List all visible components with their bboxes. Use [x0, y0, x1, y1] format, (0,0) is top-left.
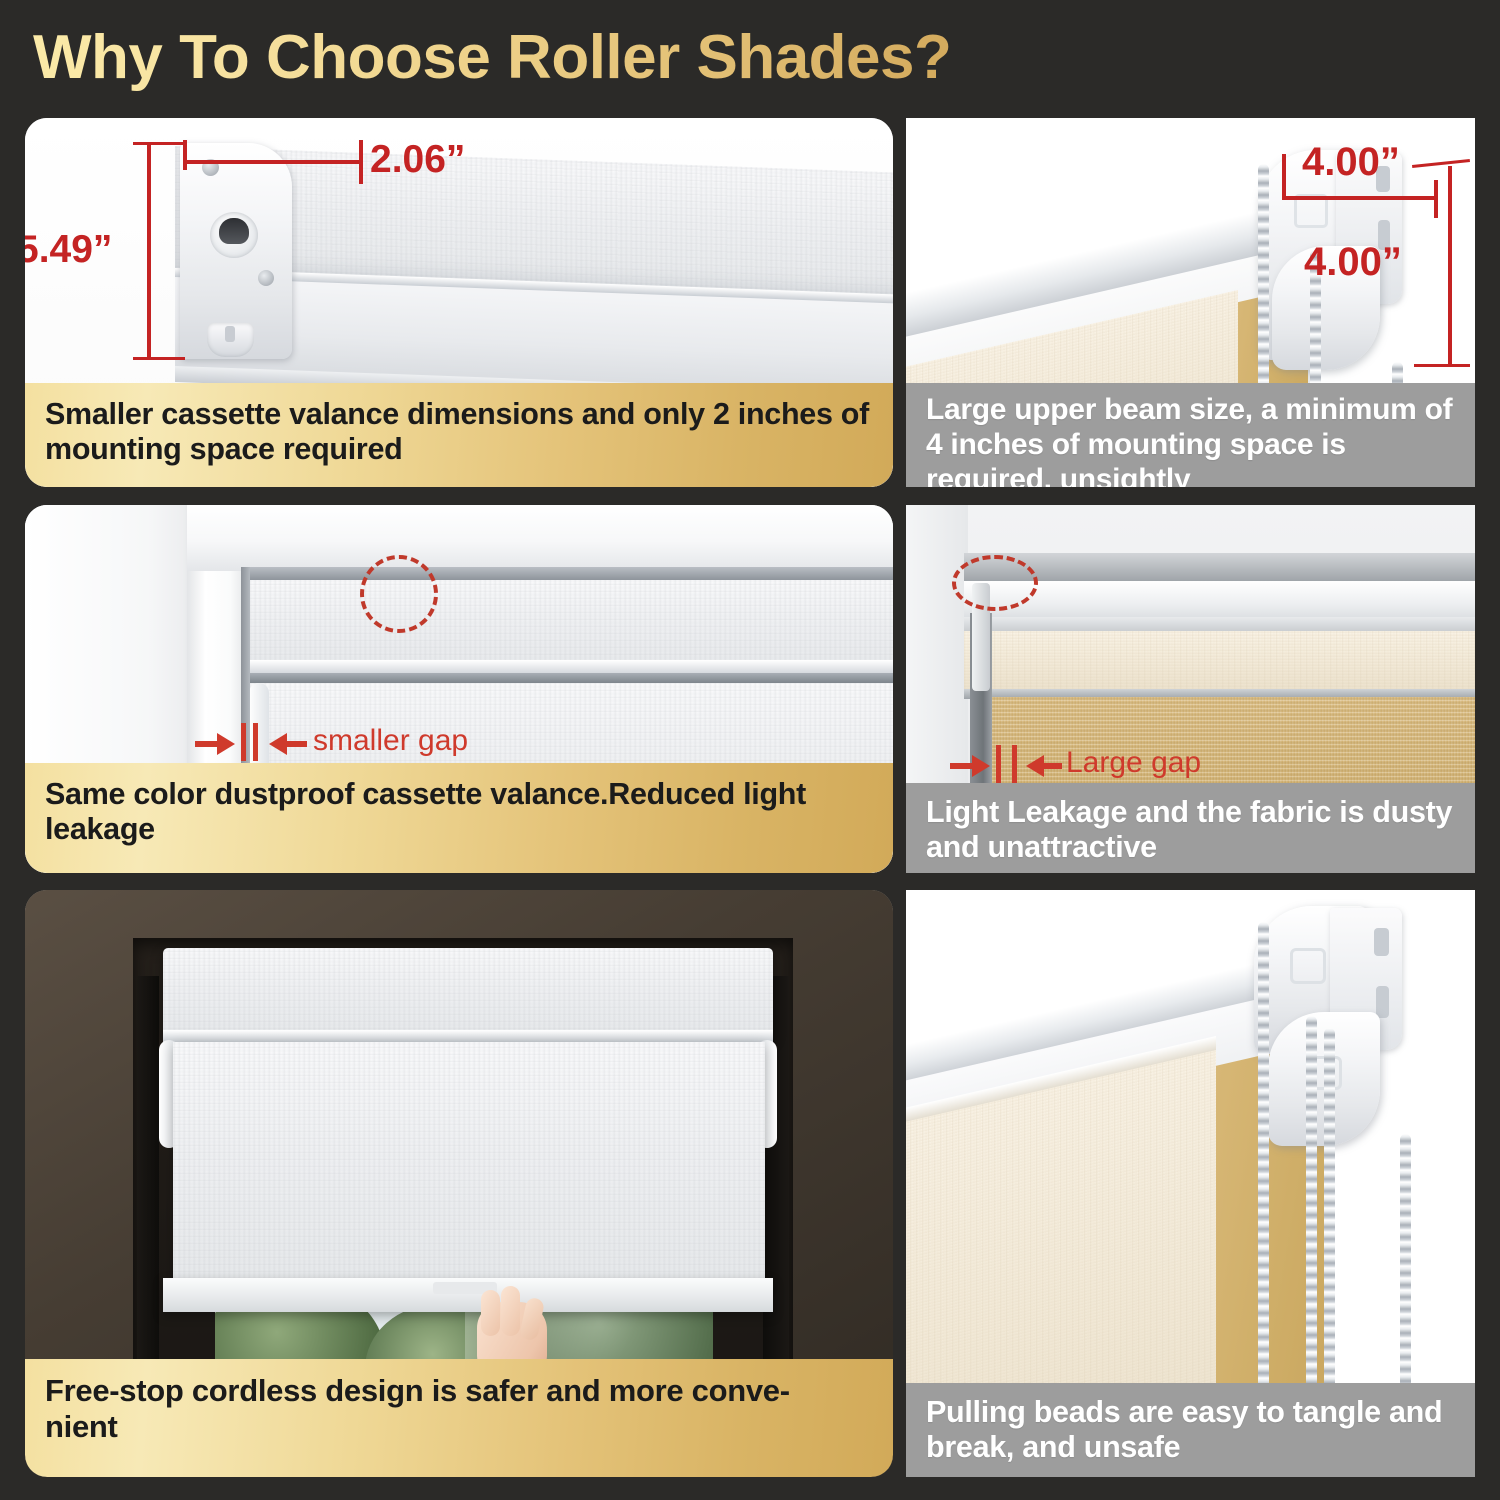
beam-height-tick-bottom: [1414, 364, 1470, 367]
beads-bracket-slot-1: [1374, 928, 1389, 956]
height-dim-line: [147, 142, 151, 360]
leakage-highlight-ellipse: [952, 555, 1038, 611]
smaller-gap-left-tail: [195, 741, 217, 747]
large-gap-left-arrow: [972, 755, 990, 777]
panel-caption: Same color dustproof cassette valance.Re…: [25, 763, 893, 873]
panel-caption: Large upper beam size, a minimum of 4 in…: [906, 383, 1475, 487]
hand-finger-middle: [501, 1286, 520, 1336]
height-dim-tick-bottom: [133, 357, 185, 360]
beam-height-dim-line: [1448, 166, 1452, 366]
shade-mid-rail: [249, 673, 893, 683]
top-gap-highlight-circle: [360, 555, 438, 633]
smaller-gap-right-arrow: [269, 733, 287, 755]
shade-valance-lip: [249, 660, 893, 674]
smaller-gap-label: smaller gap: [313, 724, 468, 758]
beads-bracket-slot-2: [1376, 986, 1389, 1018]
shade-valance-bottom-edge: [163, 1030, 773, 1042]
panel-caption: Pulling beads are easy to tangle and bre…: [906, 1383, 1475, 1477]
width-dim-tick-right: [359, 140, 363, 184]
beam-height-tick-top: [1412, 159, 1470, 168]
shade-cassette-valance: [163, 948, 773, 1036]
large-gap-label: Large gap: [1066, 746, 1201, 780]
large-gap-left-tail: [950, 763, 972, 769]
infographic-root: Why To Choose Roller Shades? 2.06”: [0, 0, 1500, 1500]
panel-cordless-design: Free-stop cordless design is safer and m…: [25, 890, 893, 1477]
smaller-gap-bar-left: [241, 723, 246, 761]
panel-dustproof-valance: smaller gap Same color dustproof cassett…: [25, 505, 893, 873]
large-gap-bar-right: [1012, 745, 1017, 783]
large-gap-right-arrow: [1026, 755, 1044, 777]
beam-height-label: 4.00”: [1304, 240, 1402, 285]
large-gap-bar-left: [996, 745, 1001, 783]
height-dim-tick-top: [133, 142, 185, 145]
beam-width-dim-line: [1284, 196, 1436, 200]
shade-top-rail: [249, 567, 893, 580]
panel-cassette-dimensions: 2.06” 5.49” Smaller cassette valance dim…: [25, 118, 893, 487]
smaller-gap-right-tail: [287, 741, 307, 747]
hand-finger-index: [481, 1290, 500, 1336]
screw-mid-icon: [258, 270, 274, 286]
fabric-cream-band: [964, 631, 1475, 693]
beam-width-tick-left: [1282, 154, 1286, 200]
width-dimension-label: 2.06”: [370, 138, 465, 182]
smaller-gap-bar-right: [253, 723, 258, 761]
height-dimension-label: 5.49”: [25, 228, 112, 272]
bracket-emblem-upper-icon: [1290, 948, 1326, 984]
large-gap-right-tail: [1044, 763, 1062, 769]
beam-width-tick-right: [1434, 180, 1438, 218]
beam-width-label: 4.00”: [1302, 140, 1400, 185]
shade-fabric-panel: [173, 1042, 765, 1286]
roller-clutch-core: [219, 218, 249, 244]
beam-top-face: [964, 553, 1475, 583]
smaller-gap-left-arrow: [217, 733, 235, 755]
panel-light-leakage: Large gap Light Leakage and the fabric i…: [906, 505, 1475, 873]
panel-caption: Light Leakage and the fabric is dusty an…: [906, 783, 1475, 873]
page-title: Why To Choose Roller Shades?: [33, 22, 1133, 94]
window-header-trim: [187, 505, 893, 571]
width-dim-line: [185, 160, 361, 164]
panel-pulling-beads: Pulling beads are easy to tangle and bre…: [906, 890, 1475, 1477]
panel-caption: Smaller cassette valance dimensions and …: [25, 383, 893, 487]
bottom-bracket-notch: [225, 326, 235, 342]
panel-caption: Free-stop cordless design is safer and m…: [25, 1359, 893, 1477]
beam-front-face: [964, 581, 1475, 621]
panel-upper-beam-size: 4.00” 4.00” Large upper beam size, a min…: [906, 118, 1475, 487]
